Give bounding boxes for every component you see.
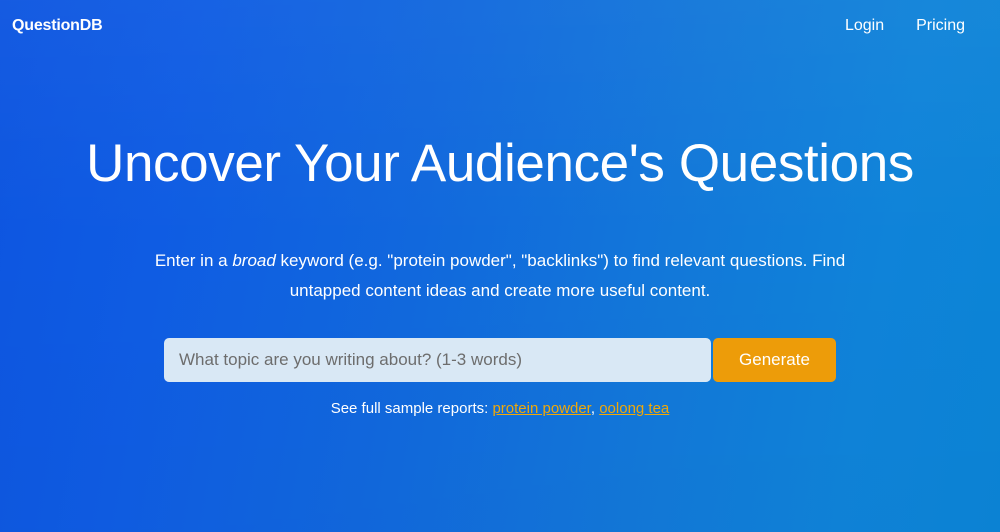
search-form: Generate bbox=[164, 338, 836, 382]
navbar: QuestionDB Login Pricing bbox=[0, 0, 1000, 52]
landing-page: QuestionDB Login Pricing Uncover Your Au… bbox=[0, 0, 1000, 532]
generate-button[interactable]: Generate bbox=[713, 338, 836, 382]
nav-link-login[interactable]: Login bbox=[845, 18, 884, 34]
nav-link-pricing[interactable]: Pricing bbox=[916, 18, 965, 34]
sample-reports-label: See full sample reports: bbox=[331, 400, 493, 417]
sample-reports-separator: , bbox=[591, 400, 599, 417]
sample-report-link-oolong-tea[interactable]: oolong tea bbox=[599, 400, 669, 417]
nav-links: Login Pricing bbox=[845, 18, 965, 34]
page-title: Uncover Your Audience's Questions bbox=[0, 131, 1000, 197]
sample-report-link-protein-powder[interactable]: protein powder bbox=[492, 400, 590, 417]
brand-logo[interactable]: QuestionDB bbox=[12, 18, 102, 34]
subtitle-part-2: keyword (e.g. "protein powder", "backlin… bbox=[276, 251, 845, 300]
sample-reports: See full sample reports: protein powder,… bbox=[0, 399, 1000, 419]
subtitle-part-1: Enter in a bbox=[155, 251, 233, 270]
subtitle-emphasis: broad bbox=[232, 251, 275, 270]
hero-section: Uncover Your Audience's Questions Enter … bbox=[0, 0, 1000, 532]
hero-subtitle: Enter in a broad keyword (e.g. "protein … bbox=[120, 246, 880, 306]
search-input[interactable] bbox=[164, 338, 711, 382]
